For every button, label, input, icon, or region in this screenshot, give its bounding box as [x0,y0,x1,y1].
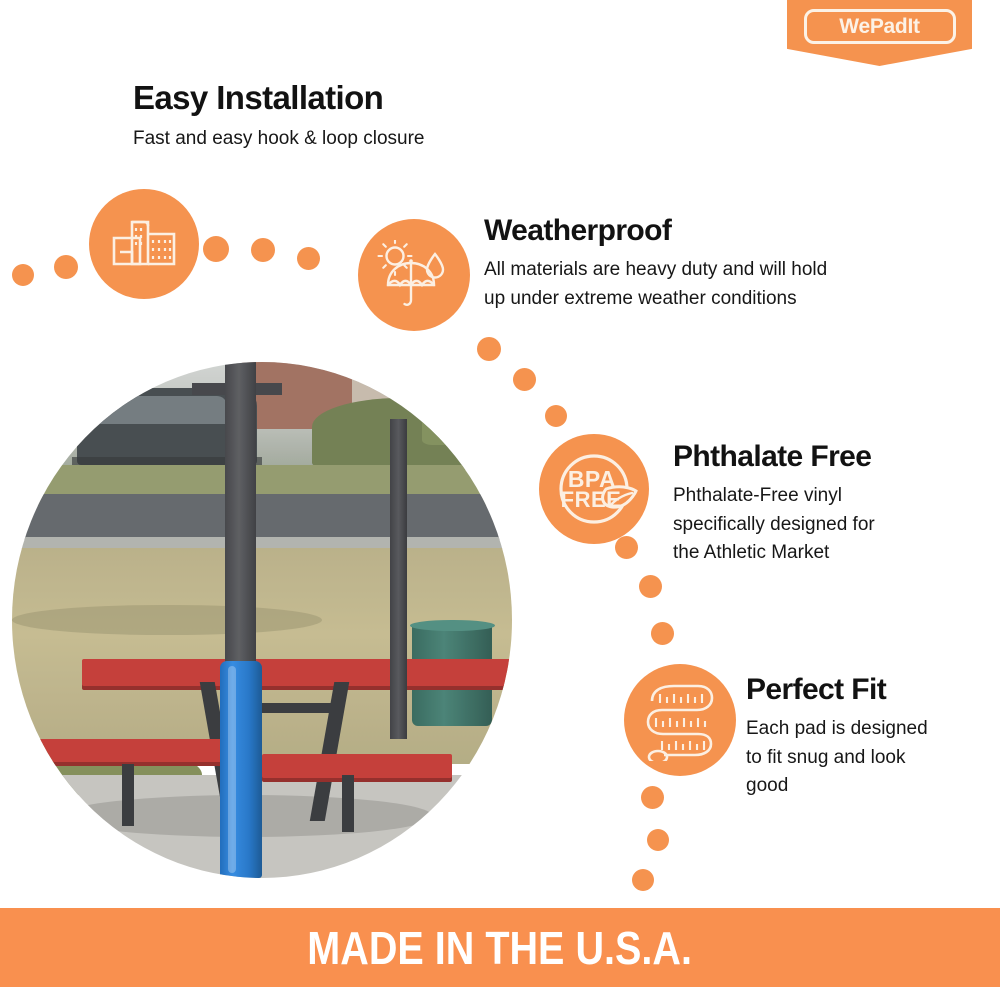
logo-part-we: We [839,15,870,38]
feature-description-line: specifically designed for [673,511,875,540]
path-dot [545,405,567,427]
feature-icon-phthalate-free: BPA FREE [539,434,649,544]
logo-part-pad: Pad [870,15,908,38]
feature-description-line: Fast and easy hook & loop closure [133,125,425,153]
bpa-free-leaf-icon: BPA FREE [548,443,640,535]
feature-description-line: Phthalate-Free vinyl [673,482,875,511]
path-dot [513,368,536,391]
path-dot [639,575,662,598]
feature-title-weatherproof: Weatherproof [484,214,671,248]
infographic-canvas: WePadIt Easy Installation Fast and easy … [0,0,1000,987]
path-dot [203,236,229,262]
feature-description-line: to fit snug and look [746,744,928,773]
path-dot [647,829,669,851]
path-dot [641,786,664,809]
feature-title-perfect-fit: Perfect Fit [746,673,886,707]
path-dot [477,337,501,361]
path-dot [615,536,638,559]
feature-title-phthalate-free: Phthalate Free [673,440,871,474]
brand-logo-banner: WePadIt [787,0,972,66]
feature-icon-perfect-fit [624,664,736,776]
path-dot [632,869,654,891]
feature-description-line: up under extreme weather conditions [484,285,827,314]
feature-description-easy-installation: Fast and easy hook & loop closure [133,125,425,153]
feature-description-line: All materials are heavy duty and will ho… [484,256,827,285]
photo-overlay [12,362,512,878]
feature-description-phthalate-free: Phthalate-Free vinyl specifically design… [673,482,875,568]
feature-description-line: the Athletic Market [673,539,875,568]
feature-title-easy-installation: Easy Installation [133,79,383,117]
bpa-line-2: FREE [561,487,622,512]
made-in-usa-text: MADE IN THE U.S.A. [308,921,693,975]
sun-umbrella-rain-icon [376,240,452,310]
feature-description-line: good [746,772,928,801]
brand-logo-text: WePadIt [839,16,919,37]
product-photo [12,362,512,878]
product-photo-scene [12,362,512,878]
feature-description-perfect-fit: Each pad is designed to fit snug and loo… [746,715,928,801]
tape-measure-icon [640,679,720,761]
path-dot [297,247,320,270]
path-dot [12,264,34,286]
path-dot [651,622,674,645]
feature-description-weatherproof: All materials are heavy duty and will ho… [484,256,827,313]
logo-part-it: It [907,15,919,38]
path-dot [54,255,78,279]
feature-description-line: Each pad is designed [746,715,928,744]
path-dot [251,238,275,262]
building-icon [110,216,178,272]
feature-icon-weatherproof [358,219,470,331]
feature-icon-easy-installation [89,189,199,299]
made-in-usa-banner: MADE IN THE U.S.A. [0,908,1000,987]
brand-logo-frame: WePadIt [804,9,956,44]
